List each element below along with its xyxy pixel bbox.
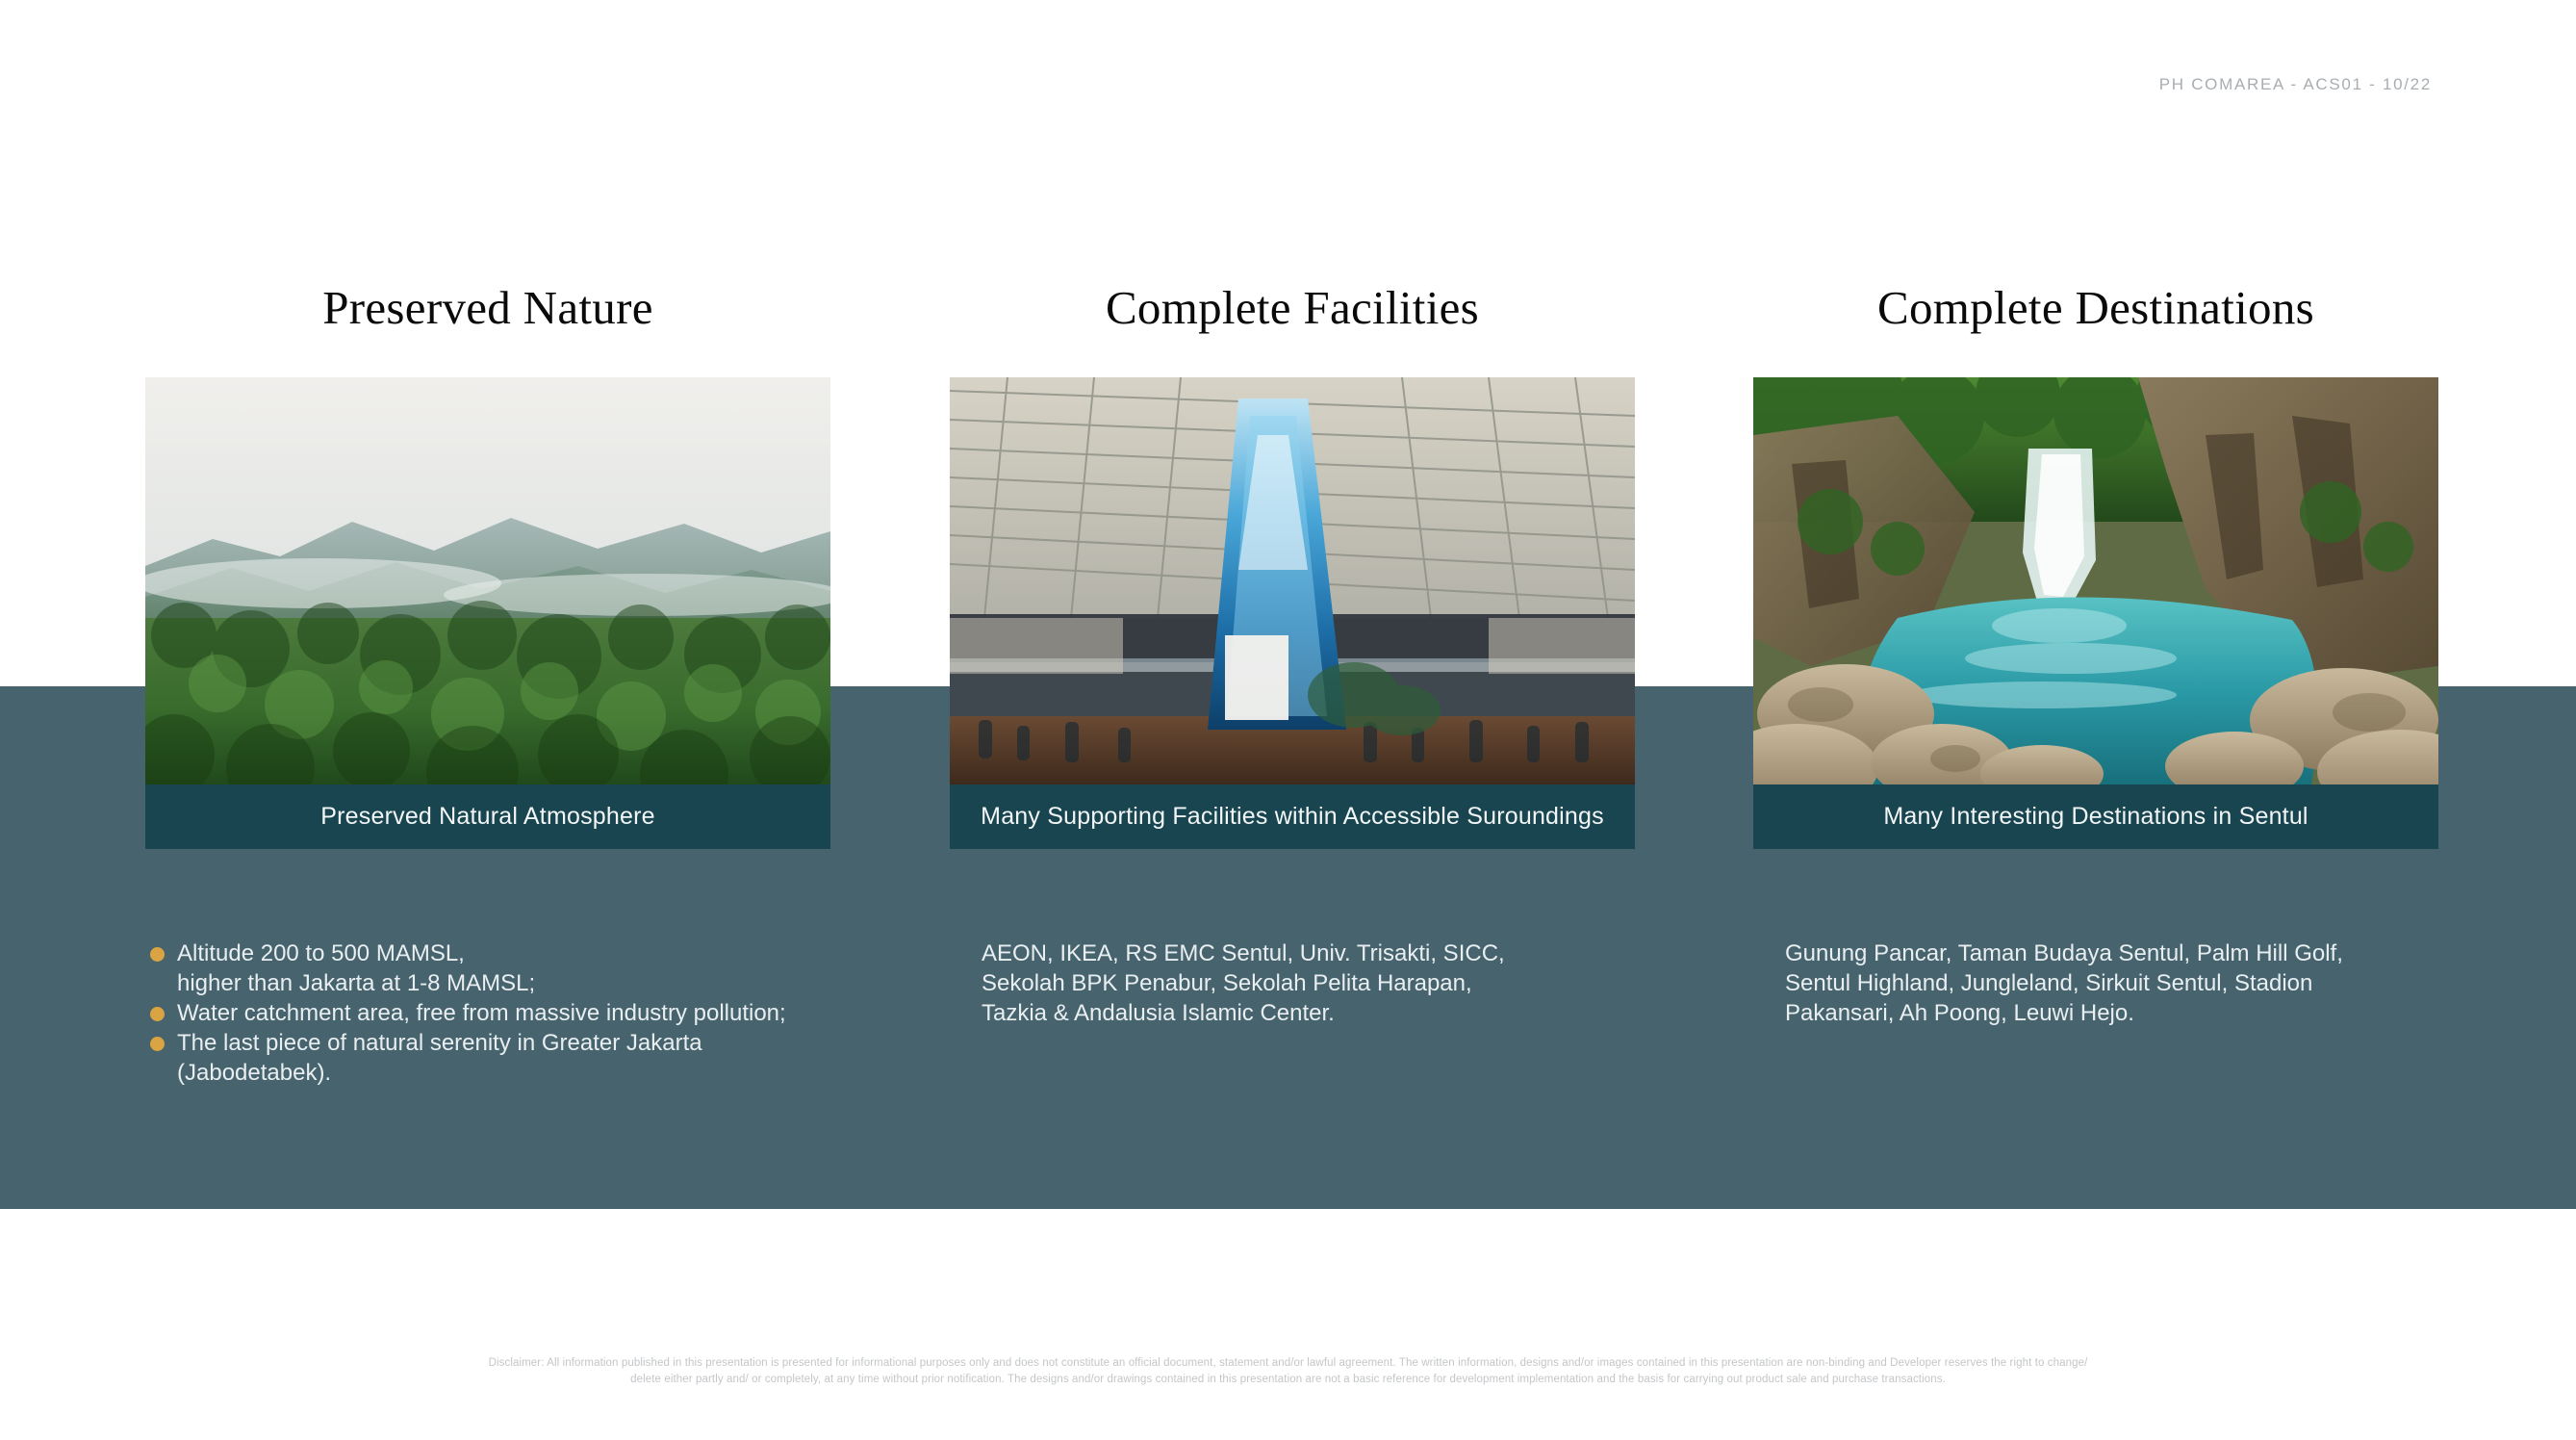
photo-card: Preserved Natural Atmosphere — [145, 377, 830, 849]
bullet-list: Altitude 200 to 500 MAMSL, higher than J… — [145, 939, 830, 1088]
feature-columns: Preserved Nature — [0, 0, 2576, 1440]
photo-card: Many Interesting Destinations in Sentul — [1753, 377, 2438, 849]
bullet-dot-icon — [150, 1007, 165, 1021]
photo-caption: Preserved Natural Atmosphere — [145, 784, 830, 849]
mountain-rainforest-photo — [145, 377, 830, 784]
bullet-text: Altitude 200 to 500 MAMSL, higher than J… — [177, 939, 830, 998]
presentation-slide: PH COMAREA - ACS01 - 10/22 Preserved Nat… — [0, 0, 2576, 1440]
column-title: Complete Destinations — [1753, 279, 2438, 337]
body-paragraph: AEON, IKEA, RS EMC Sentul, Univ. Trisakt… — [950, 939, 1635, 1028]
body-paragraph: Gunung Pancar, Taman Budaya Sentul, Palm… — [1753, 939, 2438, 1028]
bullet-text: Water catchment area, free from massive … — [177, 998, 830, 1028]
disclaimer-line-2: delete either partly and/ or completely,… — [134, 1372, 2443, 1388]
photo-card: Many Supporting Facilities within Access… — [950, 377, 1635, 849]
column-title: Complete Facilities — [950, 279, 1635, 337]
column-body: AEON, IKEA, RS EMC Sentul, Univ. Trisakt… — [950, 939, 1635, 1028]
bullet-text: The last piece of natural serenity in Gr… — [177, 1028, 830, 1088]
column-body: Altitude 200 to 500 MAMSL, higher than J… — [145, 939, 830, 1088]
disclaimer: Disclaimer: All information published in… — [134, 1355, 2443, 1388]
bullet-dot-icon — [150, 947, 165, 962]
column-body: Gunung Pancar, Taman Budaya Sentul, Palm… — [1753, 939, 2438, 1028]
photo-caption: Many Supporting Facilities within Access… — [950, 784, 1635, 849]
list-item: The last piece of natural serenity in Gr… — [145, 1028, 830, 1088]
shopping-mall-atrium-photo — [950, 377, 1635, 784]
photo-caption: Many Interesting Destinations in Sentul — [1753, 784, 2438, 849]
column-title: Preserved Nature — [145, 279, 830, 337]
list-item: Altitude 200 to 500 MAMSL, higher than J… — [145, 939, 830, 998]
list-item: Water catchment area, free from massive … — [145, 998, 830, 1028]
bullet-dot-icon — [150, 1037, 165, 1051]
jungle-waterfall-photo — [1753, 377, 2438, 784]
disclaimer-line-1: Disclaimer: All information published in… — [134, 1355, 2443, 1372]
